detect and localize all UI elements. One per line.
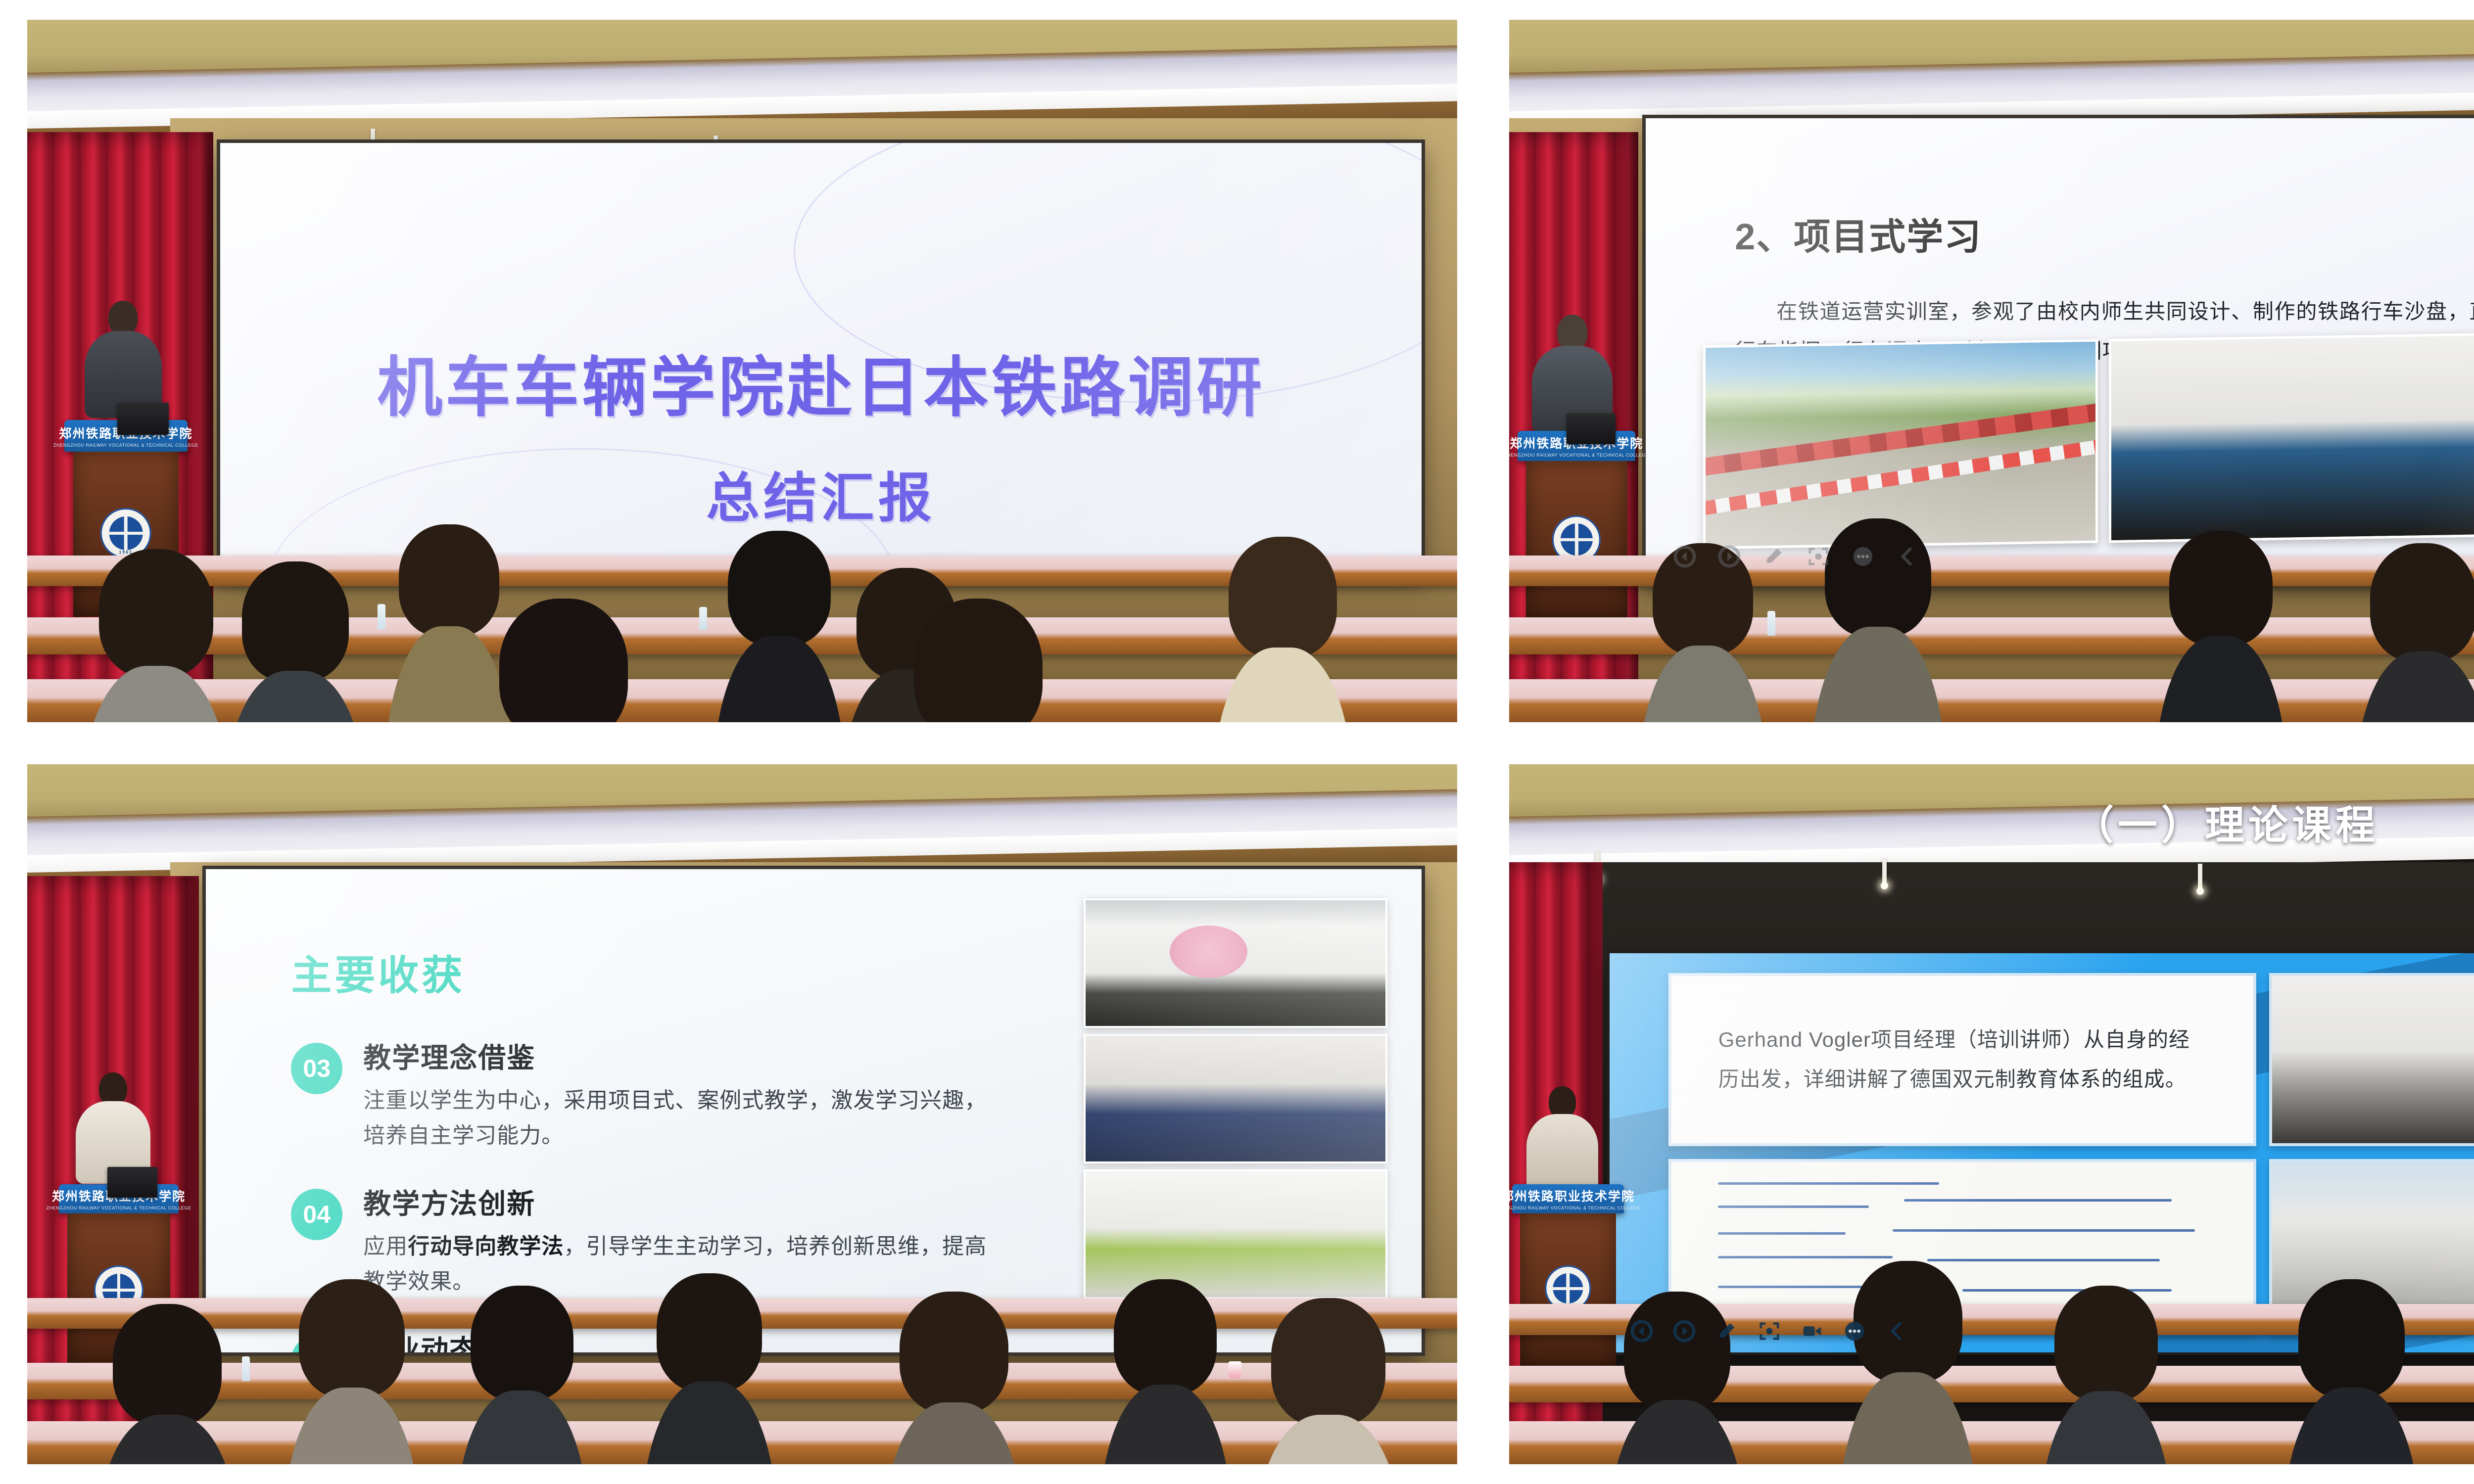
water-bottle [378,604,385,630]
audience-member [1854,1261,1962,1464]
water-bottle [242,1356,250,1381]
audience-member [728,531,831,722]
item-number: 03 [291,1043,342,1094]
next-slide-button[interactable] [1718,545,1741,568]
audience-area [27,1156,1457,1464]
audience-member [2054,1286,2158,1464]
photo-collage: 机车车辆学院赴日本铁路调研 总结汇报 汇报人：牛可 郑州铁路职业技术学院 ZHE… [0,0,2474,1484]
speaker-head [99,1072,127,1106]
audience-member [299,1279,405,1464]
lecture-room-photo [1084,898,1387,1028]
audience-member [113,1304,222,1464]
audience-area [1509,413,2474,722]
audience-member [2370,543,2474,722]
nursing-ward-visit-photo [1084,1034,1387,1163]
previous-slide-button[interactable] [1673,545,1696,568]
collapse-toolbar-button[interactable] [1886,1320,1908,1343]
panel-top-left: 机车车辆学院赴日本铁路调研 总结汇报 汇报人：牛可 郑州铁路职业技术学院 ZHE… [0,0,1489,742]
list-item: 03 教学理念借鉴 注重以学生为中心，采用项目式、案例式教学，激发学习兴趣，培养… [291,1036,992,1154]
audience-member [242,561,349,722]
audience-member [399,524,499,722]
audience-member [2169,531,2273,722]
more-options-button[interactable] [1852,545,1874,568]
trainer-presentation-photo [2269,973,2474,1146]
speaker-head [1557,315,1588,351]
photo-top-left: 机车车辆学院赴日本铁路调研 总结汇报 汇报人：牛可 郑州铁路职业技术学院 ZHE… [27,20,1457,722]
audience-member [1229,537,1337,722]
audience-member [99,549,213,722]
text-card: Gerhand Vogler项目经理（培训讲师）从自身的经历出发，详细讲解了德国… [1668,973,2256,1146]
cup [1229,1361,1241,1378]
audience-member [1624,1292,1730,1464]
speaker-head [108,301,138,335]
audience-member [914,599,1043,722]
audience-area [27,413,1457,722]
spotlight-button[interactable] [1758,1320,1781,1343]
panel-top-right: 2、项目式学习 在铁道运营实训室，参观了由校内师生共同设计、制作的铁路行车沙盘，… [1489,0,2474,742]
panel-bottom-right: （一）理论课程 Gerhand Vogler项目经理（培训讲师）从自身的经历出发… [1489,742,2474,1484]
audience-member [1271,1298,1385,1464]
audience-member [900,1292,1008,1464]
water-bottle [699,607,707,630]
audience-member [1653,543,1753,722]
spotlight-button[interactable] [1807,545,1830,568]
next-slide-button[interactable] [1673,1320,1696,1343]
ceiling-lamp [1882,858,1887,885]
previous-slide-button[interactable] [1630,1320,1653,1343]
audience-member [2298,1279,2405,1464]
audience-member [471,1286,573,1464]
photo-top-right: 2、项目式学习 在铁道运营实训室，参观了由校内师生共同设计、制作的铁路行车沙盘，… [1509,20,2474,722]
collapse-toolbar-button[interactable] [1896,545,1919,568]
record-button[interactable] [1801,1320,1823,1343]
text-card-body: Gerhand Vogler项目经理（培训讲师）从自身的经历出发，详细讲解了德国… [1718,1020,2206,1100]
audience-member [657,1273,762,1464]
water-bottle [1767,611,1775,636]
pen-annotate-button[interactable] [1762,545,1785,568]
audience-area [1509,1156,2474,1464]
item-heading: 教学理念借鉴 [363,1036,992,1076]
ppt-presenter-toolbar[interactable] [1673,545,1919,568]
panel-bottom-left: 主要收获 03 教学理念借鉴 注重以学生为中心，采用项目式、案例式教学，激发学习… [0,742,1489,1484]
audience-member [499,599,628,722]
slide-title: （一）理论课程 [1509,793,2474,851]
audience-member [1114,1279,1217,1464]
ceiling-lamp [2198,864,2202,890]
photo-bottom-left: 主要收获 03 教学理念借鉴 注重以学生为中心，采用项目式、案例式教学，激发学习… [27,764,1457,1464]
photo-bottom-right: （一）理论课程 Gerhand Vogler项目经理（培训讲师）从自身的经历出发… [1509,764,2474,1464]
more-options-button[interactable] [1843,1320,1866,1343]
slide-heading: 2、项目式学习 [1735,207,2474,260]
pen-annotate-button[interactable] [1715,1320,1738,1343]
ppt-presenter-toolbar[interactable] [1630,1320,1908,1343]
item-body: 注重以学生为中心，采用项目式、案例式教学，激发学习兴趣，培养自主学习能力。 [363,1083,992,1154]
speaker-head [1549,1086,1576,1118]
